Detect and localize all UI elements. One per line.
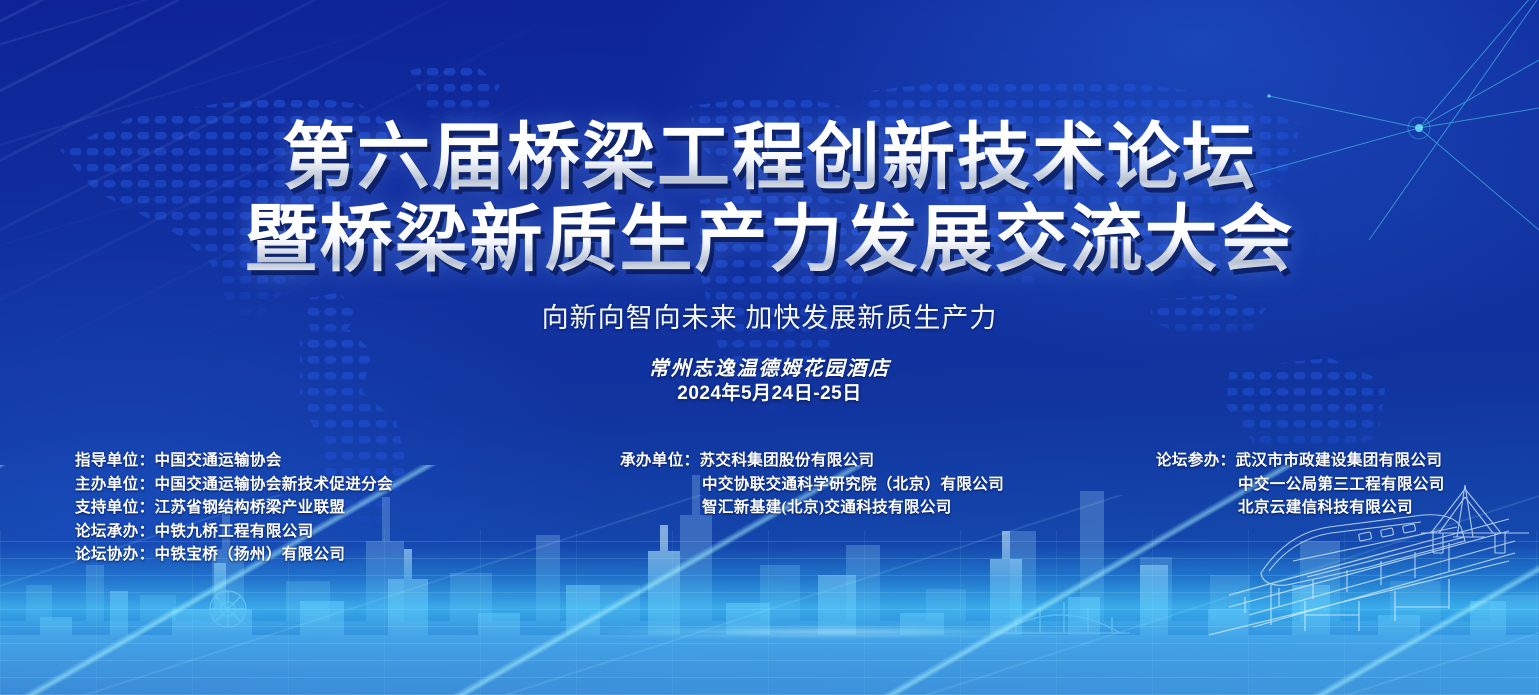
organizer-value: 中国交通运输协会新技术促进分会	[155, 476, 394, 493]
organizer-row: 指导单位：中国交通运输协会	[75, 449, 393, 473]
organizers-column-middle: 承办单位：苏交科集团股份有限公司 中交协联交通科学研究院（北京）有限公司 智汇新…	[620, 449, 1004, 520]
title-line-2: 暨桥梁新质生产力发展交流大会	[0, 198, 1539, 280]
organizer-row: 主办单位：中国交通运输协会新技术促进分会	[75, 473, 393, 497]
event-dates: 2024年5月24日-25日	[0, 378, 1539, 405]
organizer-row: 中交协联交通科学研究院（北京）有限公司	[620, 473, 1004, 497]
organizer-value: 苏交科集团股份有限公司	[700, 452, 875, 469]
conference-banner: 第六届桥梁工程创新技术论坛 暨桥梁新质生产力发展交流大会 向新向智向未来 加快发…	[0, 0, 1539, 695]
organizer-value: 武汉市市政建设集团有限公司	[1236, 452, 1443, 469]
organizer-row: 论坛协办：中铁宝桥（扬州）有限公司	[75, 543, 393, 567]
organizer-label: 承办单位：	[620, 449, 700, 473]
organizer-row: 承办单位：苏交科集团股份有限公司	[620, 449, 1004, 473]
organizer-row: 智汇新基建(北京)交通科技有限公司	[620, 496, 1004, 520]
organizer-value: 智汇新基建(北京)交通科技有限公司	[702, 499, 952, 516]
slogan: 向新向智向未来 加快发展新质生产力	[0, 296, 1539, 335]
organizers-column-left: 指导单位：中国交通运输协会 主办单位：中国交通运输协会新技术促进分会 支持单位：…	[75, 449, 393, 567]
organizer-row: 中交一公局第三工程有限公司	[1156, 473, 1445, 497]
title-block: 第六届桥梁工程创新技术论坛 暨桥梁新质生产力发展交流大会	[0, 116, 1539, 280]
organizer-value: 中国交通运输协会	[155, 452, 282, 469]
organizer-row: 北京云建信科技有限公司	[1156, 496, 1445, 520]
organizer-label: 论坛协办：	[75, 543, 155, 567]
organizers-column-right: 论坛参办：武汉市市政建设集团有限公司 中交一公局第三工程有限公司 北京云建信科技…	[1156, 449, 1445, 520]
organizer-row: 支持单位：江苏省钢结构桥梁产业联盟	[75, 496, 393, 520]
organizer-value: 北京云建信科技有限公司	[1238, 499, 1413, 516]
title-line-1: 第六届桥梁工程创新技术论坛	[0, 116, 1539, 198]
organizer-label: 论坛承办：	[75, 520, 155, 544]
organizer-value: 江苏省钢结构桥梁产业联盟	[155, 499, 346, 516]
horizon-glow	[431, 627, 1231, 637]
organizer-row: 论坛承办：中铁九桥工程有限公司	[75, 520, 393, 544]
organizer-label: 支持单位：	[75, 496, 155, 520]
organizer-label: 论坛参办：	[1156, 449, 1236, 473]
organizer-value: 中交协联交通科学研究院（北京）有限公司	[702, 476, 1004, 493]
organizer-value: 中铁宝桥（扬州）有限公司	[155, 546, 346, 563]
organizer-label: 指导单位：	[75, 449, 155, 473]
organizer-value: 中交一公局第三工程有限公司	[1238, 476, 1445, 493]
organizer-label: 主办单位：	[75, 473, 155, 497]
venue: 常州志逸温德姆花园酒店	[0, 352, 1539, 381]
organizers-block: 指导单位：中国交通运输协会 主办单位：中国交通运输协会新技术促进分会 支持单位：…	[0, 449, 1539, 569]
organizer-value: 中铁九桥工程有限公司	[155, 523, 314, 540]
organizer-row: 论坛参办：武汉市市政建设集团有限公司	[1156, 449, 1445, 473]
